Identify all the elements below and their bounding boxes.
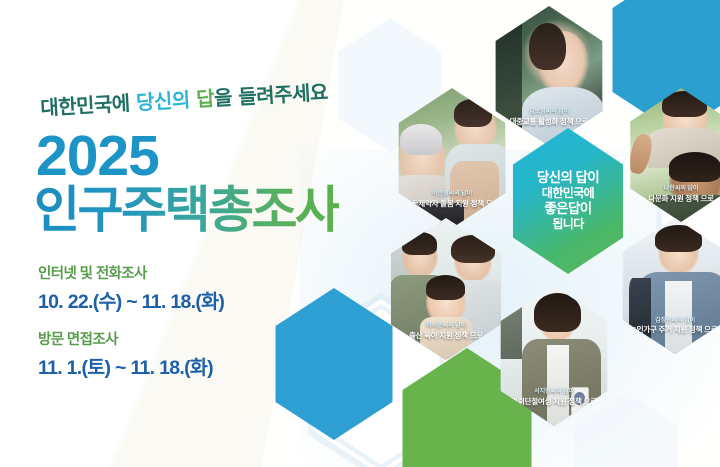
survey-dates: 인터넷 및 전화조사 10. 22.(수) ~ 11. 18.(화) 방문 면접… [38, 262, 224, 394]
date-label: 인터넷 및 전화조사 [38, 262, 224, 283]
tagline-part-4: 을 들려주세요 [213, 80, 328, 110]
message-line-1: 당신의 답이 [537, 170, 599, 186]
caption-person: 이은영씨의 답이 [394, 190, 510, 198]
caption-person: 서지현씨의 답이 [496, 388, 612, 396]
center-message-text: 당신의 답이 대한민국에 좋은답이 됩니다 [537, 170, 599, 232]
date-value: 11. 1.(토) ~ 11. 18.(화) [38, 351, 224, 380]
caption-person: 나한씨의 답이 [626, 185, 720, 193]
message-line-2: 대한민국에 [537, 186, 599, 201]
poster-year: 2025 [36, 128, 159, 185]
date-label: 방문 면접조사 [38, 328, 224, 349]
tagline-part-2: 당신의 [135, 87, 196, 114]
caption-person: 김보영씨의 답이 [491, 108, 607, 116]
poster-title: 인구주택총조사 [34, 184, 339, 237]
message-line-3: 좋은답이 [537, 201, 599, 217]
census-poster: 김보영씨의 답이 대중교통 활성화 정책 으로 이은영씨의 답이 활동제약자 돌… [0, 0, 720, 467]
caption-person: 이서준씨의 답이 [386, 322, 506, 330]
date-group-internet-phone: 인터넷 및 전화조사 10. 22.(수) ~ 11. 18.(화) [38, 262, 224, 314]
tagline-part-1: 대한민국에 [40, 91, 137, 120]
tagline-part-3: 답 [196, 86, 215, 111]
date-group-visit-interview: 방문 면접조사 11. 1.(토) ~ 11. 18.(화) [38, 328, 224, 380]
message-line-4: 됩니다 [537, 217, 599, 232]
caption-person: 김정민씨의 답이 [618, 317, 720, 325]
date-value: 10. 22.(수) ~ 11. 18.(화) [38, 285, 224, 314]
